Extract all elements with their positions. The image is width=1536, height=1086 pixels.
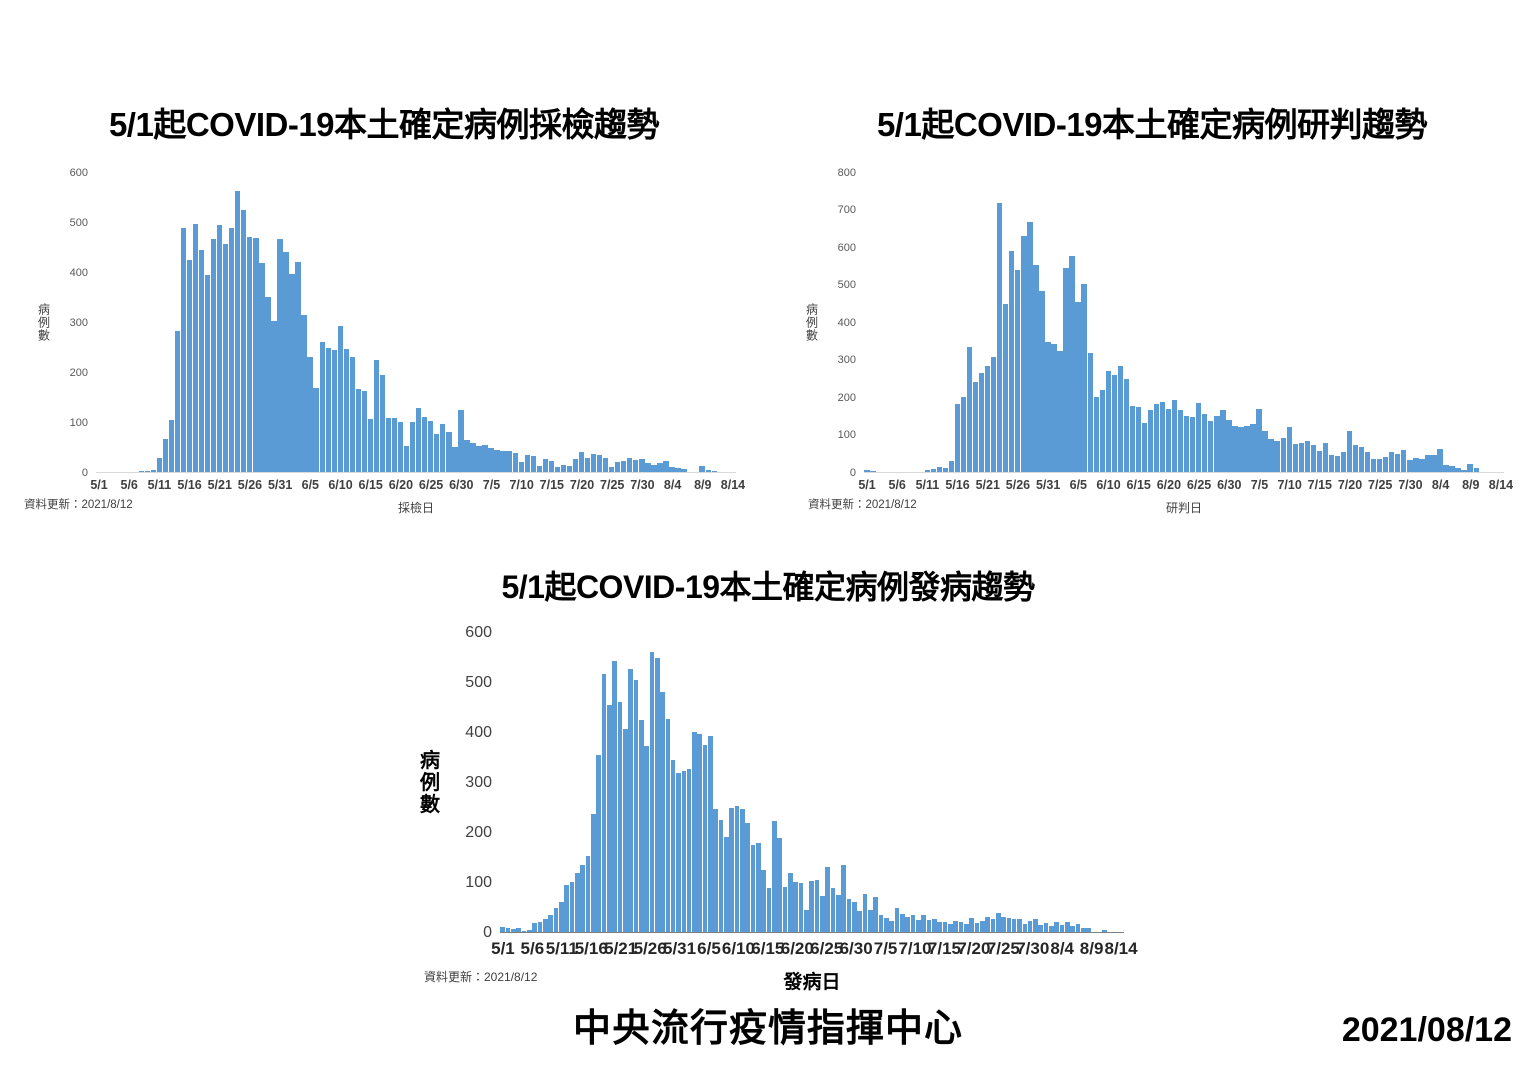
bar — [1142, 423, 1147, 472]
bar — [979, 373, 984, 471]
bar — [1021, 236, 1026, 471]
x-tick-label: 7/30 — [1398, 478, 1422, 492]
bar — [1076, 924, 1081, 932]
bar — [666, 719, 671, 932]
y-tick-label: 0 — [82, 467, 88, 479]
bar — [740, 809, 745, 933]
x-tick-label: 6/5 — [697, 939, 721, 959]
x-tick-label: 8/4 — [1050, 939, 1074, 959]
bar — [697, 734, 702, 932]
bar — [1281, 438, 1286, 472]
bar — [1232, 426, 1237, 472]
slide-root: 5/1起COVID-19本土確定病例採檢趨勢 病例數 0100200300400… — [0, 0, 1536, 1086]
bar — [356, 389, 361, 472]
bar — [554, 908, 559, 932]
y-tick-label: 300 — [70, 317, 88, 329]
bar — [1166, 409, 1171, 472]
y-axis-title-judged: 病例數 — [804, 303, 820, 342]
x-tick-label: 6/25 — [419, 478, 443, 492]
x-tick-label: 5/6 — [121, 478, 138, 492]
bar — [1323, 443, 1328, 471]
bar — [476, 446, 481, 472]
bar — [1049, 926, 1054, 932]
bar — [961, 397, 966, 472]
bar — [494, 450, 499, 472]
y-tick-labels-sampling: 0100200300400500600 — [52, 173, 94, 473]
bar — [1449, 466, 1454, 472]
bar — [585, 458, 590, 471]
bar-series-judged — [864, 173, 1504, 472]
y-tick-label: 500 — [465, 674, 492, 692]
x-tick-label: 5/31 — [268, 478, 292, 492]
bar — [1299, 443, 1304, 472]
bar — [663, 461, 668, 472]
bar — [615, 462, 620, 471]
bar — [1003, 304, 1008, 472]
bar — [1395, 454, 1400, 472]
bar — [332, 350, 337, 472]
bar — [1038, 925, 1043, 932]
bar — [870, 471, 875, 472]
bar — [519, 462, 524, 472]
x-tick-label: 5/1 — [858, 478, 875, 492]
bar — [706, 470, 711, 472]
bar — [991, 919, 996, 932]
bar — [639, 459, 644, 471]
footer-organization: 中央流行疫情指揮中心 — [0, 997, 1536, 1052]
bar — [969, 918, 974, 932]
bar — [925, 470, 930, 472]
bar — [217, 225, 222, 472]
x-tick-label: 7/25 — [1368, 478, 1392, 492]
bar — [660, 692, 665, 932]
bar — [1070, 926, 1075, 932]
bar — [392, 418, 397, 471]
x-tick-label: 6/25 — [810, 939, 843, 959]
bar — [831, 888, 836, 932]
y-tick-label: 600 — [838, 242, 856, 254]
bar — [575, 873, 580, 932]
bar — [735, 806, 740, 932]
x-tick-label: 5/26 — [634, 939, 667, 959]
x-tick-label: 6/5 — [1070, 478, 1087, 492]
bar — [1102, 930, 1107, 932]
bar — [1359, 447, 1364, 471]
bar — [223, 244, 228, 472]
x-tick-label: 6/15 — [1127, 478, 1151, 492]
y-tick-label: 800 — [838, 167, 856, 179]
x-tick-label: 5/11 — [916, 478, 940, 492]
bar — [1274, 441, 1279, 472]
bar — [1184, 416, 1189, 472]
chart-panel-sampling: 5/1起COVID-19本土確定病例採檢趨勢 病例數 0100200300400… — [0, 78, 768, 528]
x-tick-label: 6/30 — [449, 478, 473, 492]
bar — [1214, 416, 1219, 471]
y-tick-labels-judged: 0100200300400500600700800 — [820, 173, 862, 473]
bar — [564, 885, 569, 932]
bar — [253, 238, 258, 472]
bar — [513, 453, 518, 472]
bar — [767, 888, 772, 932]
bar — [985, 366, 990, 472]
bar — [579, 452, 584, 472]
bar — [820, 896, 825, 932]
bar — [1262, 431, 1267, 471]
bar — [570, 882, 575, 932]
bar — [1148, 410, 1153, 472]
bar — [1017, 919, 1022, 932]
bar — [1244, 426, 1249, 472]
bar — [241, 210, 246, 472]
bar — [1238, 427, 1243, 471]
x-tick-labels-judged: 5/15/65/115/165/215/265/316/56/106/156/2… — [864, 473, 1504, 499]
bar — [873, 897, 878, 932]
bar — [573, 459, 578, 471]
bar — [772, 821, 777, 932]
plot-area-onset: 病例數 0100200300400500600 5/15/65/115/165/… — [424, 633, 1124, 933]
bar — [561, 465, 566, 472]
y-tick-label: 600 — [70, 167, 88, 179]
bar — [1118, 366, 1123, 472]
bar — [1437, 449, 1442, 472]
bar — [522, 931, 527, 932]
footer-date: 2021/08/12 — [1342, 1011, 1512, 1050]
bar — [669, 467, 674, 472]
x-tick-label: 5/6 — [521, 939, 545, 959]
bar — [193, 224, 198, 472]
y-tick-label: 100 — [70, 417, 88, 429]
x-tick-label: 6/15 — [751, 939, 784, 959]
bar — [1045, 342, 1050, 472]
bar — [628, 669, 633, 932]
bar — [187, 260, 192, 471]
x-tick-label: 7/30 — [1016, 939, 1049, 959]
bar — [525, 455, 530, 471]
x-tick-label: 7/5 — [874, 939, 898, 959]
bar — [1051, 344, 1056, 472]
bar — [980, 921, 985, 932]
bar — [1190, 417, 1195, 472]
bar — [163, 439, 168, 472]
bar — [889, 921, 894, 932]
bar — [916, 920, 921, 932]
bar — [1060, 925, 1065, 932]
bar — [1007, 918, 1012, 932]
bar — [1371, 459, 1376, 471]
bar — [1124, 379, 1129, 472]
bar — [1455, 468, 1460, 471]
bar — [1057, 351, 1062, 472]
bar — [964, 924, 969, 932]
bar — [344, 349, 349, 472]
bar — [651, 465, 656, 472]
update-note-onset: 資料更新：2021/8/12 — [424, 968, 537, 985]
bar — [1317, 451, 1322, 472]
update-note-sampling: 資料更新：2021/8/12 — [24, 496, 133, 512]
bar — [1425, 455, 1430, 471]
bar — [603, 458, 608, 472]
x-tick-label: 5/16 — [177, 478, 201, 492]
y-tick-label: 200 — [465, 824, 492, 842]
bar — [1268, 439, 1273, 472]
bar — [1160, 402, 1165, 472]
bar — [295, 262, 300, 471]
y-tick-labels-onset: 0100200300400500600 — [444, 633, 498, 933]
bar — [852, 902, 857, 932]
x-tick-label: 8/9 — [1080, 939, 1104, 959]
bar — [1347, 431, 1352, 471]
bar — [884, 918, 889, 932]
bar — [211, 239, 216, 472]
bar — [470, 443, 475, 471]
bar — [464, 440, 469, 471]
bar — [804, 910, 809, 932]
bar — [793, 882, 798, 932]
bar — [751, 845, 756, 932]
bar — [703, 745, 708, 932]
x-tick-label: 6/15 — [359, 478, 383, 492]
plot-canvas-judged — [864, 173, 1504, 473]
x-tick-label: 8/4 — [1432, 478, 1449, 492]
bar — [580, 865, 585, 932]
bar — [458, 410, 463, 472]
bar — [777, 838, 782, 932]
x-tick-label: 6/20 — [1157, 478, 1181, 492]
bar — [788, 873, 793, 932]
bar — [799, 883, 804, 932]
bar — [1009, 251, 1014, 472]
x-tick-label: 5/21 — [976, 478, 1000, 492]
bar — [623, 729, 628, 932]
x-tick-label: 6/10 — [328, 478, 352, 492]
bar — [1335, 456, 1340, 471]
bar — [975, 923, 980, 932]
x-tick-label: 7/15 — [1308, 478, 1332, 492]
y-axis-title-onset: 病例數 — [418, 750, 442, 816]
bar — [1419, 459, 1424, 472]
bar — [692, 732, 697, 932]
bar — [1226, 420, 1231, 472]
bar — [506, 928, 511, 932]
bar — [864, 470, 869, 471]
x-tick-label: 8/9 — [694, 478, 711, 492]
bar — [1069, 256, 1074, 472]
bar — [326, 348, 331, 472]
bar — [555, 467, 560, 472]
bar — [151, 470, 156, 471]
bar — [1202, 414, 1207, 472]
bar — [597, 455, 602, 472]
bar — [169, 420, 174, 471]
x-tick-label: 8/14 — [721, 478, 745, 492]
x-tick-label: 7/5 — [483, 478, 500, 492]
bar — [559, 902, 564, 932]
bar — [538, 922, 543, 932]
bar — [1136, 407, 1141, 472]
bar — [301, 315, 306, 472]
x-tick-label: 6/10 — [722, 939, 755, 959]
bar — [1065, 922, 1070, 932]
x-tick-label: 5/16 — [945, 478, 969, 492]
bar — [511, 929, 516, 932]
bar — [1293, 444, 1298, 472]
plot-canvas-sampling — [96, 173, 736, 473]
bar — [586, 856, 591, 932]
bar — [1106, 371, 1111, 472]
bar — [1044, 923, 1049, 932]
bar — [1305, 441, 1310, 472]
bar — [506, 451, 511, 471]
bar — [313, 388, 318, 472]
bar — [289, 274, 294, 471]
bar — [404, 446, 409, 471]
bar — [634, 680, 639, 932]
x-tick-label: 8/14 — [1489, 478, 1513, 492]
bar — [549, 461, 554, 472]
y-tick-label: 400 — [838, 317, 856, 329]
bar-series-onset — [500, 633, 1124, 932]
bar — [1088, 353, 1093, 472]
bar — [650, 652, 655, 932]
bar — [350, 357, 355, 472]
bar — [1431, 455, 1436, 471]
bar — [175, 331, 180, 472]
bar — [1311, 445, 1316, 472]
bar — [277, 239, 282, 472]
bar — [537, 466, 542, 472]
bar — [1220, 410, 1225, 471]
x-axis-title-onset: 發病日 — [500, 967, 1124, 994]
bar — [386, 418, 391, 471]
x-tick-label: 8/14 — [1105, 939, 1138, 959]
bar — [857, 911, 862, 932]
bar — [1389, 452, 1394, 471]
x-tick-label: 7/25 — [600, 478, 624, 492]
bar — [591, 454, 596, 471]
x-tick-label: 5/21 — [604, 939, 637, 959]
bar — [931, 469, 936, 472]
bar — [1027, 222, 1032, 471]
bar — [985, 917, 990, 932]
bar — [681, 469, 686, 471]
bar — [307, 357, 312, 472]
x-tick-label: 7/20 — [1338, 478, 1362, 492]
bar — [655, 658, 660, 932]
x-tick-label: 7/20 — [957, 939, 990, 959]
bar — [235, 191, 240, 472]
bar — [937, 922, 942, 932]
bar — [567, 466, 572, 471]
bar — [500, 451, 505, 472]
bar — [500, 927, 505, 932]
bar — [932, 919, 937, 932]
x-tick-label: 6/20 — [389, 478, 413, 492]
x-tick-label: 7/30 — [630, 478, 654, 492]
x-tick-label: 7/25 — [987, 939, 1020, 959]
bar — [708, 736, 713, 932]
x-tick-label: 5/26 — [238, 478, 262, 492]
bar — [1081, 928, 1086, 932]
bar — [434, 434, 439, 472]
x-tick-label: 7/10 — [898, 939, 931, 959]
bar — [271, 321, 276, 472]
bar — [422, 417, 427, 472]
bar — [380, 375, 385, 472]
bar — [482, 445, 487, 472]
bar — [612, 661, 617, 933]
bar — [675, 468, 680, 471]
x-tick-label: 5/26 — [1006, 478, 1030, 492]
x-tick-label: 6/20 — [781, 939, 814, 959]
bar — [283, 252, 288, 471]
bar — [639, 720, 644, 932]
bar-series-sampling — [96, 173, 736, 472]
x-tick-label: 5/6 — [889, 478, 906, 492]
bar — [921, 915, 926, 932]
bar — [1461, 470, 1466, 472]
bar — [199, 250, 204, 472]
bar — [937, 467, 942, 472]
bar — [1287, 427, 1292, 472]
bar — [671, 760, 676, 932]
bar — [991, 357, 996, 472]
bar — [809, 881, 814, 932]
bar — [428, 421, 433, 471]
bar — [687, 769, 692, 932]
x-tick-label: 5/1 — [491, 939, 515, 959]
bar — [761, 870, 766, 932]
bar — [943, 468, 948, 472]
bar — [338, 326, 343, 472]
bar — [548, 915, 553, 932]
plot-area-judged: 病例數 0100200300400500600700800 5/15/65/11… — [804, 173, 1504, 473]
bar — [362, 391, 367, 472]
chart-title-onset: 5/1起COVID-19本土確定病例發病趨勢 — [384, 567, 1152, 607]
bar — [1028, 921, 1033, 932]
bar — [602, 674, 607, 932]
bar — [1033, 919, 1038, 932]
plot-area-sampling: 病例數 0100200300400500600 5/15/65/115/165/… — [36, 173, 736, 473]
y-tick-label: 200 — [70, 367, 88, 379]
bar — [1112, 375, 1117, 472]
y-tick-label: 0 — [850, 467, 856, 479]
bar — [157, 458, 162, 472]
bar — [527, 930, 532, 932]
bar — [1196, 403, 1201, 472]
bar — [719, 820, 724, 932]
bar — [676, 773, 681, 932]
bar — [607, 705, 612, 932]
bar — [591, 814, 596, 932]
x-tick-label: 5/16 — [575, 939, 608, 959]
bar — [181, 228, 186, 472]
bar — [645, 463, 650, 472]
x-tick-label: 7/20 — [570, 478, 594, 492]
bar — [410, 422, 415, 472]
bar — [699, 466, 704, 472]
bar — [516, 928, 521, 932]
bar — [756, 843, 761, 932]
bar — [967, 347, 972, 471]
y-tick-label: 500 — [838, 279, 856, 291]
y-tick-label: 100 — [465, 874, 492, 892]
bar — [1413, 458, 1418, 471]
bar — [618, 702, 623, 932]
plot-canvas-onset — [500, 633, 1124, 933]
bar — [1100, 390, 1105, 472]
bar — [531, 456, 536, 471]
bar — [1353, 445, 1358, 472]
